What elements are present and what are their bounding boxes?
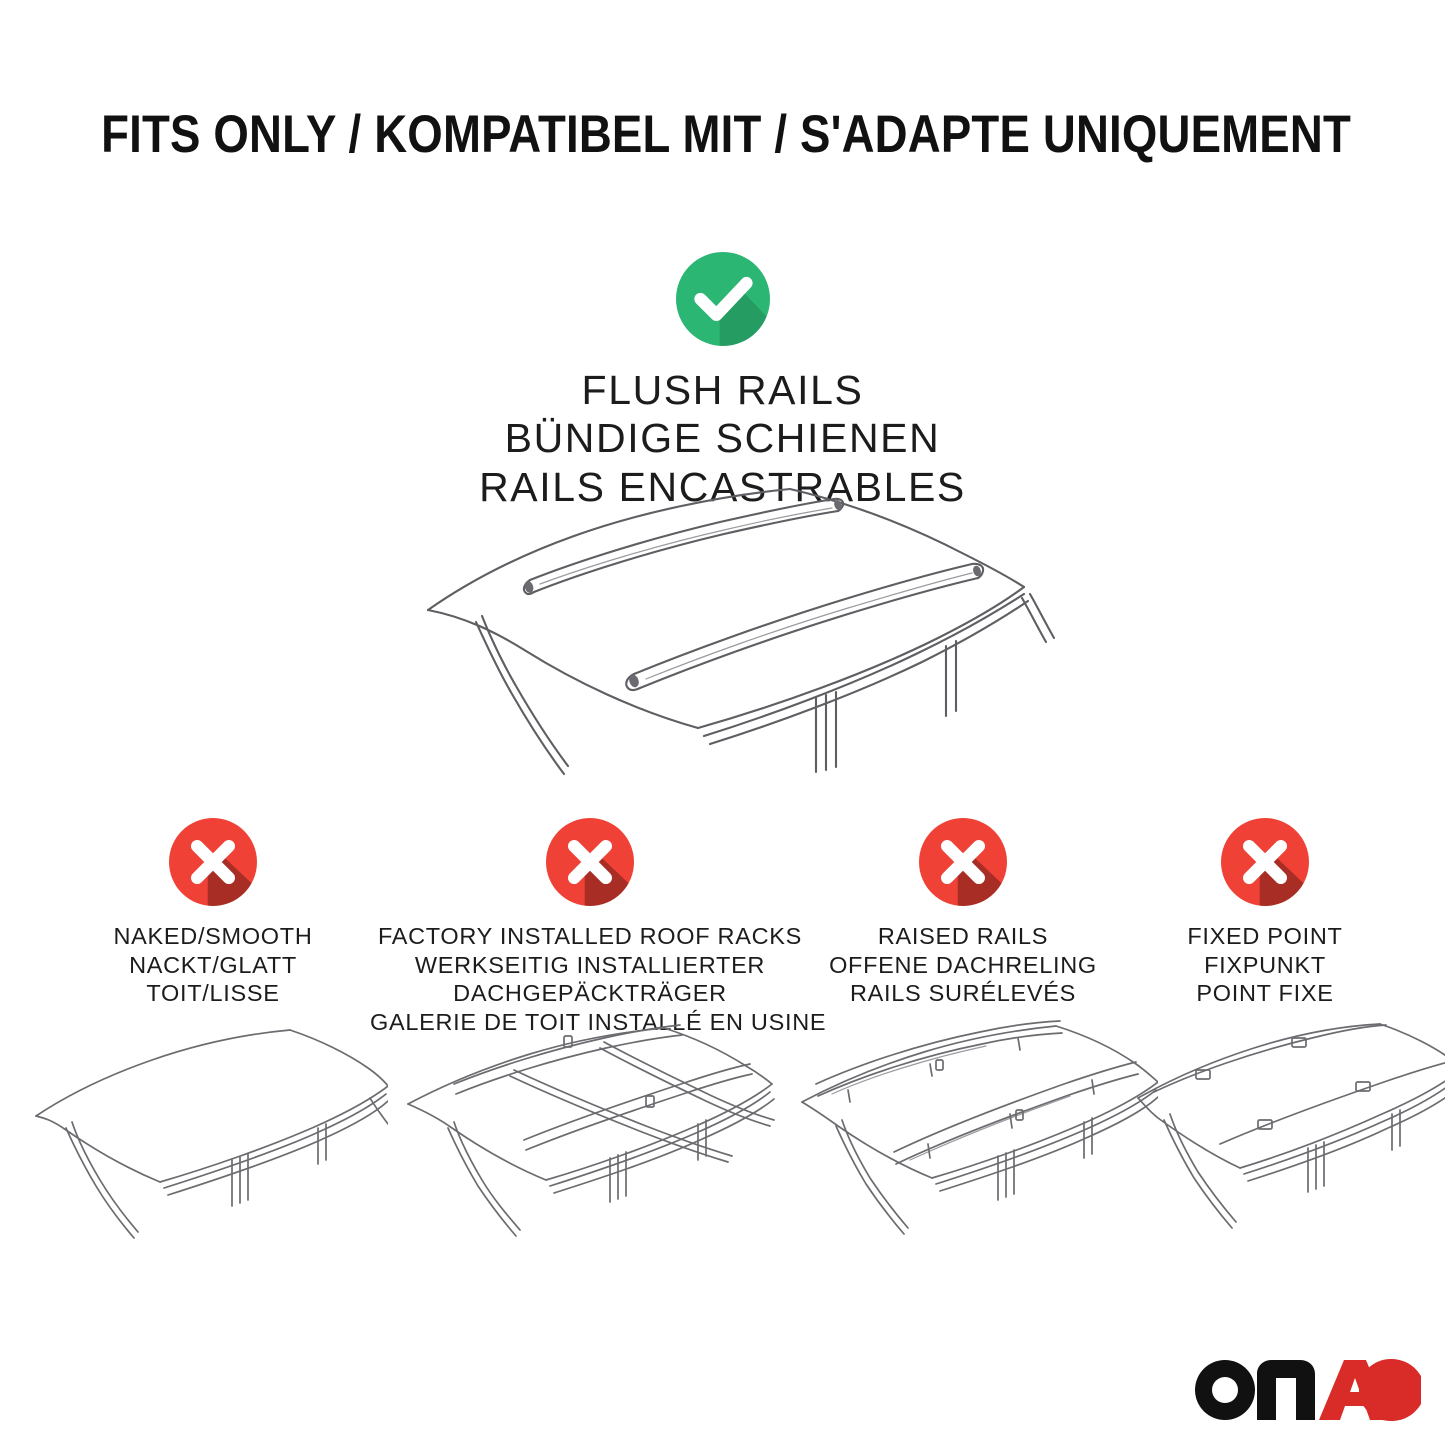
incompatible-label-line: OFFENE DACHRELING bbox=[803, 951, 1123, 980]
incompatible-label-line: FACTORY INSTALLED ROOF RACKS bbox=[370, 922, 810, 951]
incompatible-label-line: WERKSEITIG INSTALLIERTER bbox=[370, 951, 810, 980]
incompatible-illustrations bbox=[0, 1010, 1445, 1250]
incompatible-labels: RAISED RAILS OFFENE DACHRELING RAILS SUR… bbox=[803, 922, 1123, 1008]
incompatible-label-line: NACKT/GLATT bbox=[43, 951, 383, 980]
incompatible-label-line: RAISED RAILS bbox=[803, 922, 1123, 951]
logo-letter-m bbox=[1257, 1360, 1315, 1420]
x-circle-icon bbox=[546, 818, 634, 906]
incompatible-labels: NAKED/SMOOTH NACKT/GLATT TOIT/LISSE bbox=[43, 922, 383, 1008]
compatibility-infographic: FITS ONLY / KOMPATIBEL MIT / S'ADAPTE UN… bbox=[0, 0, 1445, 1445]
incompatible-label-line: DACHGEPÄCKTRÄGER bbox=[370, 979, 810, 1008]
incompatible-item-factory-roof-racks: FACTORY INSTALLED ROOF RACKS WERKSEITIG … bbox=[370, 818, 810, 1037]
page-title: FITS ONLY / KOMPATIBEL MIT / S'ADAPTE UN… bbox=[101, 104, 1344, 165]
incompatible-label-line: FIXED POINT bbox=[1125, 922, 1405, 951]
car-roof-flush-rails-illustration bbox=[398, 470, 1058, 790]
incompatible-item-raised-rails: RAISED RAILS OFFENE DACHRELING RAILS SUR… bbox=[803, 818, 1123, 1008]
x-circle-icon bbox=[169, 818, 257, 906]
incompatible-item-naked-smooth: NAKED/SMOOTH NACKT/GLATT TOIT/LISSE bbox=[43, 818, 383, 1008]
incompatible-label-line: RAILS SURÉLEVÉS bbox=[803, 979, 1123, 1008]
compatible-label-line: FLUSH RAILS bbox=[0, 366, 1445, 414]
incompatible-label-line: NAKED/SMOOTH bbox=[43, 922, 383, 951]
compatible-label-line: BÜNDIGE SCHIENEN bbox=[0, 414, 1445, 462]
incompatible-label-line: POINT FIXE bbox=[1125, 979, 1405, 1008]
x-circle-icon bbox=[1221, 818, 1309, 906]
logo-letter-c bbox=[1359, 1359, 1421, 1421]
incompatible-item-fixed-point: FIXED POINT FIXPUNKT POINT FIXE bbox=[1125, 818, 1405, 1008]
car-roof-raised-rails-illustration bbox=[788, 1010, 1158, 1240]
x-circle-icon bbox=[919, 818, 1007, 906]
check-circle-icon bbox=[676, 252, 770, 346]
logo-letter-o bbox=[1195, 1360, 1255, 1420]
incompatible-label-line: FIXPUNKT bbox=[1125, 951, 1405, 980]
car-roof-factory-roof-racks-illustration bbox=[398, 1010, 778, 1240]
incompatible-label-line: TOIT/LISSE bbox=[43, 979, 383, 1008]
incompatible-labels: FIXED POINT FIXPUNKT POINT FIXE bbox=[1125, 922, 1405, 1008]
car-roof-naked-smooth-illustration bbox=[18, 1010, 388, 1240]
omac-logo bbox=[1193, 1352, 1421, 1426]
car-roof-fixed-point-illustration bbox=[1128, 1010, 1445, 1240]
